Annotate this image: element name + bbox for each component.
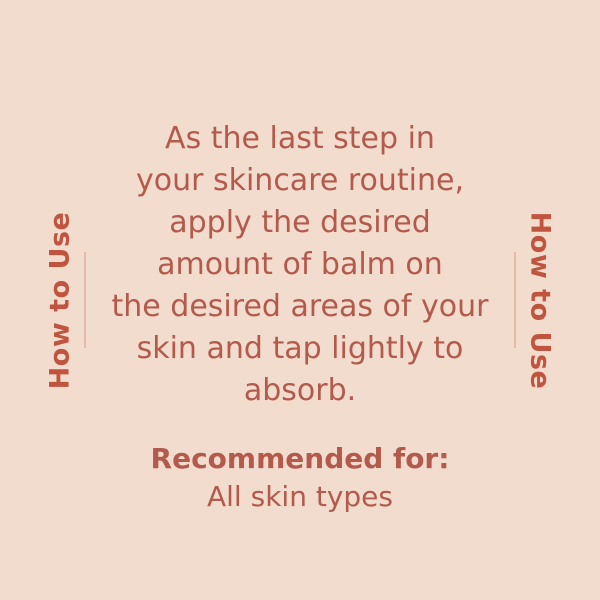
- divider-rule-right: [514, 252, 516, 348]
- recommended-title: Recommended for:: [100, 440, 500, 478]
- recommended-block: Recommended for: All skin types: [100, 440, 500, 516]
- content-block: As the last step in your skincare routin…: [100, 118, 500, 516]
- how-to-use-card: How to Use How to Use As the last step i…: [0, 0, 600, 600]
- recommended-value: All skin types: [100, 478, 500, 516]
- side-label-left: How to Use: [30, 0, 90, 600]
- side-label-right: How to Use: [510, 0, 570, 600]
- side-label-right-text: How to Use: [525, 211, 556, 389]
- instructions-text: As the last step in your skincare routin…: [100, 118, 500, 412]
- side-label-left-text: How to Use: [45, 211, 76, 389]
- divider-rule-left: [84, 252, 86, 348]
